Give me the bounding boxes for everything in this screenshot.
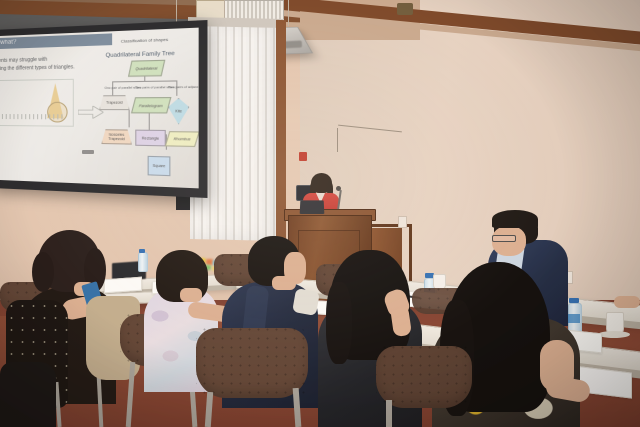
attendee-edge-left — [0, 362, 56, 427]
flow-node-isosceles-trapezoid: Isosceles Trapezoid — [101, 129, 132, 144]
attendee-3-cuff — [292, 288, 320, 316]
slide-baseline-marks — [0, 114, 66, 119]
attendee-2-neck — [180, 288, 202, 302]
presentation-slide: …what? Students may struggle with identi… — [0, 28, 199, 189]
presenter-laptop — [300, 200, 325, 214]
flow-branch-label-3: Two pairs of adjacent sides — [168, 83, 199, 91]
screen-brand-label — [82, 150, 94, 154]
attendee-6-hair-top — [492, 210, 538, 228]
flow-node-trapezoid: Trapezoid — [99, 95, 129, 110]
chair-perforation — [376, 346, 472, 408]
attendee-4-hair-left — [326, 282, 352, 364]
attendee-3-neck — [272, 276, 296, 290]
water-bottle-cap-3 — [569, 298, 579, 303]
microphone-icon — [336, 186, 341, 191]
flow-node-parallelogram: Parallelogram — [131, 97, 172, 113]
chair-back-7[interactable] — [376, 346, 472, 408]
flow-node-quadrilateral: Quadrilateral — [128, 60, 165, 77]
conference-room-photo: …what? Students may struggle with identi… — [0, 0, 640, 427]
slide-header-text: …what? — [0, 33, 112, 49]
flow-node-rectangle: Rectangle — [135, 130, 166, 147]
attendee-1-hair-left — [32, 252, 54, 292]
flow-connector-l4 — [129, 110, 130, 127]
wall-outlet-icon — [398, 216, 407, 228]
flow-node-square: Square — [148, 156, 171, 176]
flow-node-rhombus: Rhombus — [165, 131, 199, 147]
chair-leg-8 — [386, 400, 392, 427]
slide-arrow-icon — [78, 106, 103, 119]
slide-body-line-2: identifying the different types of trian… — [0, 64, 75, 73]
chair-perforation — [196, 328, 308, 398]
water-bottle-cap-1 — [139, 249, 145, 253]
glasses-icon — [492, 235, 516, 242]
handout-paper-1 — [104, 277, 142, 294]
wood-wall-strip — [276, 20, 286, 240]
flow-node-kite: Kite — [168, 98, 189, 125]
projection-screen: …what? Students may struggle with identi… — [0, 28, 199, 189]
chair-back-6[interactable] — [196, 328, 308, 398]
wall-artwork-image — [397, 3, 413, 15]
wall-cable-vertical — [337, 128, 338, 152]
cup-saucer — [598, 331, 630, 338]
presenter-hair — [311, 173, 332, 193]
slide-body-line-1: Students may struggle with — [0, 57, 47, 66]
water-bottle-label-3 — [568, 314, 580, 323]
slide-right-caption: Classification of shapes — [121, 35, 168, 44]
attendee-hand-right-edge — [614, 296, 640, 308]
fire-alarm-icon — [299, 152, 307, 161]
panel-support-rod-2 — [288, 0, 289, 26]
slide-title-bar: …what? — [0, 33, 112, 49]
water-bottle-1 — [138, 252, 148, 272]
